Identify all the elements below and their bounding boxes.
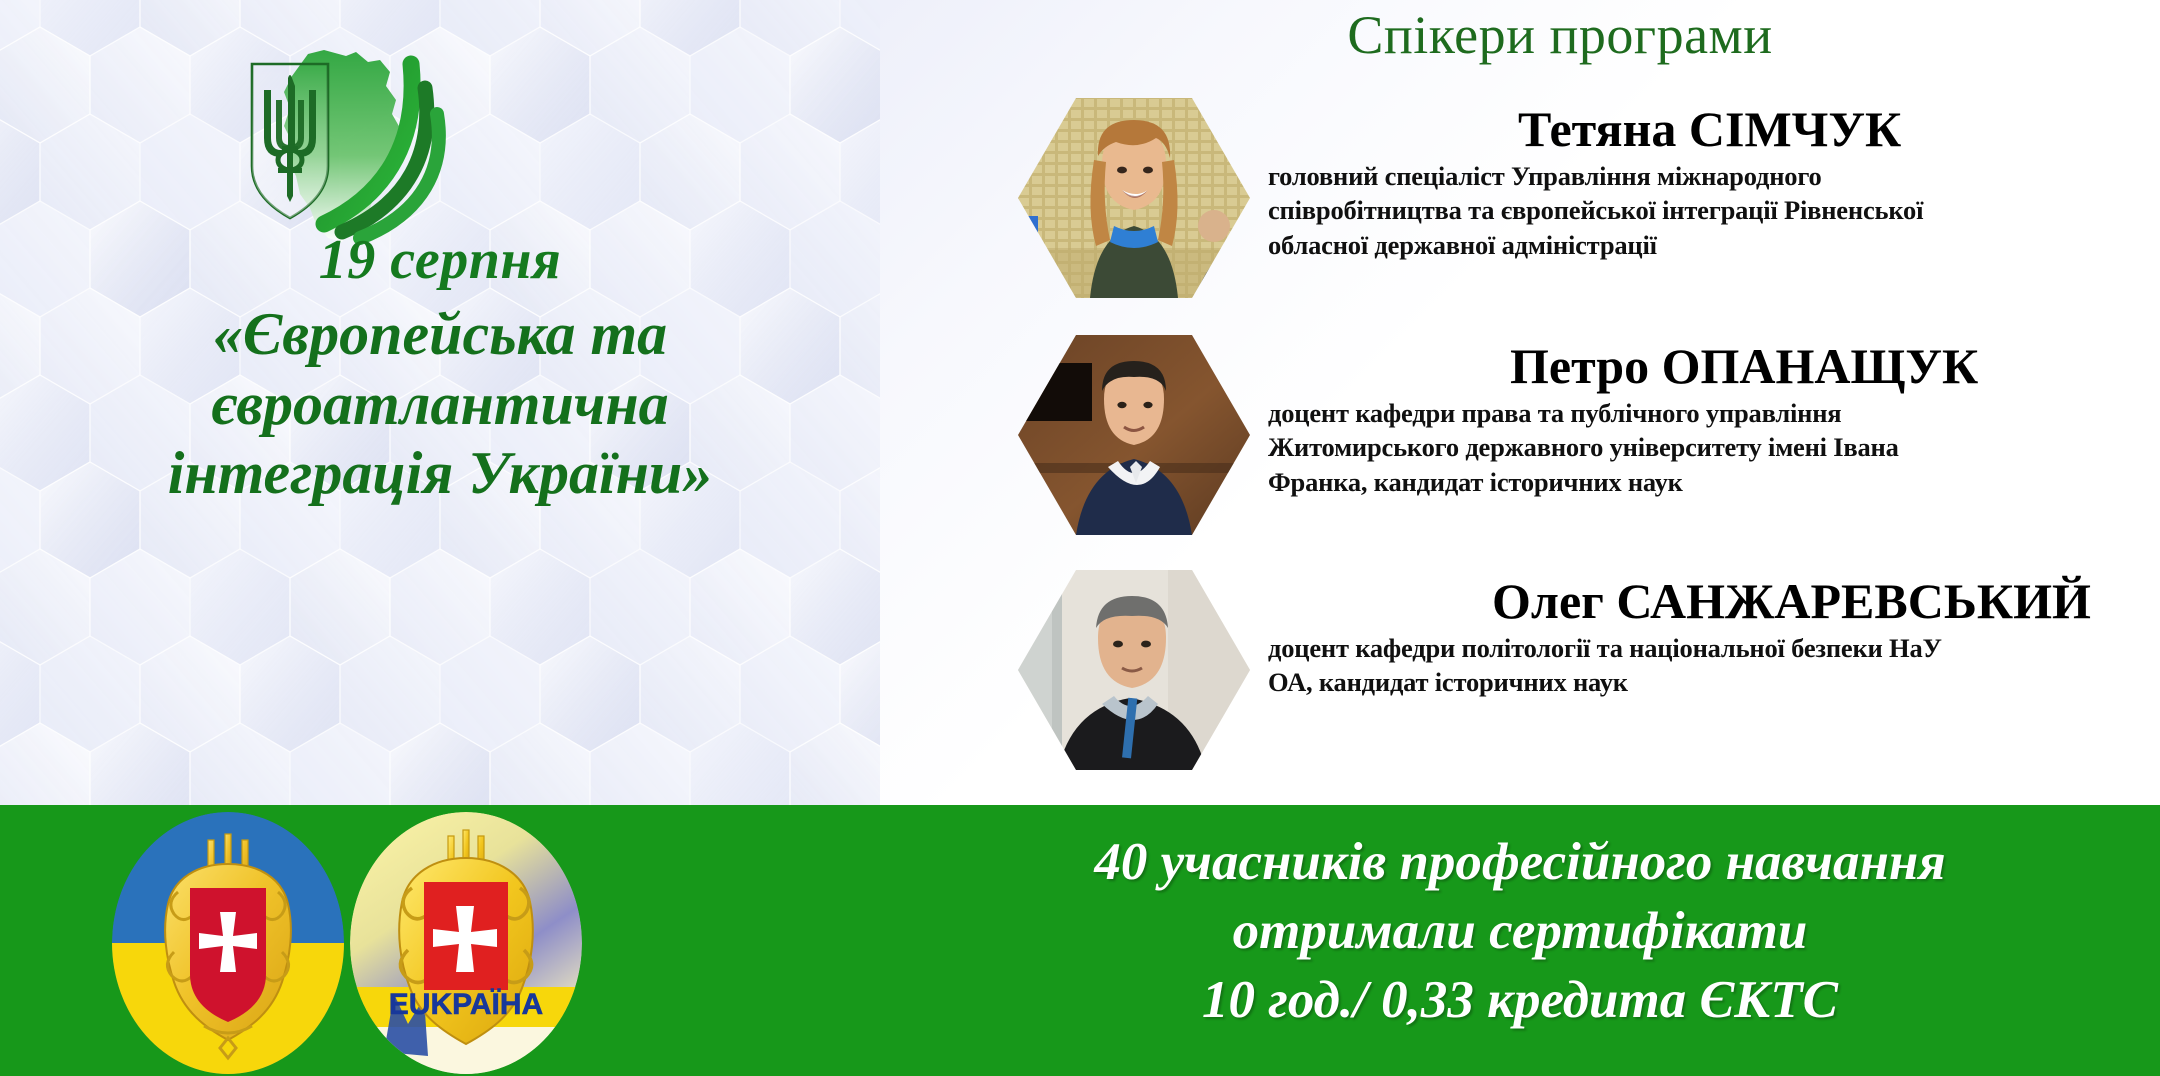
speaker-text-block: Петро ОПАНАЩУК доцент кафедри права та п… [1250, 335, 2148, 499]
speaker-role-line: доцент кафедри політології та національн… [1268, 631, 2148, 665]
speaker-name: Тетяна СІМЧУК [1268, 104, 2148, 155]
speaker-role-line: головний спеціаліст Управління міжнародн… [1268, 159, 2148, 193]
speaker-text-block: Олег САНЖАРЕВСЬКИЙ доцент кафедри політо… [1250, 570, 2148, 700]
speaker-role-line: Житомирського державного університету ім… [1268, 430, 2148, 464]
speaker-role: головний спеціаліст Управління міжнародн… [1268, 159, 2148, 262]
speaker-photo-petro-opanashchuk [1018, 335, 1250, 535]
speaker-role-line: ОА, кандидат історичних наук [1268, 665, 2148, 699]
speaker-row: Тетяна СІМЧУК головний спеціаліст Управл… [1018, 98, 2148, 298]
speaker-text-block: Тетяна СІМЧУК головний спеціаліст Управл… [1250, 98, 2148, 262]
banner-line-2: отримали сертифікати [880, 897, 2160, 966]
speaker-role-line: Франка, кандидат історичних наук [1268, 465, 2148, 499]
event-date: 19 серпня [0, 228, 880, 292]
speaker-role-line: обласної державної адміністрації [1268, 228, 2148, 262]
event-title-line-3: інтеграція України» [40, 439, 840, 509]
event-title-line-1: «Європейська та [40, 300, 840, 370]
banner-text: 40 учасників професійного навчання отрим… [880, 828, 2160, 1035]
speakers-heading: Спікери програми [1280, 4, 1840, 66]
speaker-photo-oleh-sanzharevskyi [1018, 570, 1250, 770]
rivne-oblast-coat-of-arms [112, 812, 344, 1074]
speaker-photo-tetiana-simchuk [1018, 98, 1250, 298]
banner-line-1: 40 учасників професійного навчання [880, 828, 2160, 897]
banner-line-3: 10 год./ 0,33 кредита ЄКТС [880, 966, 2160, 1035]
poster-root: 19 серпня «Європейська та євроатлантична… [0, 0, 2160, 1076]
speaker-role: доцент кафедри права та публічного управ… [1268, 396, 2148, 499]
speaker-name: Олег САНЖАРЕВСЬКИЙ [1268, 576, 2148, 627]
speaker-role-line: доцент кафедри права та публічного управ… [1268, 396, 2148, 430]
eu-ukraina-emblem: EUKPAÏHA [350, 812, 582, 1074]
event-title-line-2: євроатлантична [40, 370, 840, 440]
speaker-role-line: співробітництва та європейської інтеграц… [1268, 193, 2148, 227]
speaker-name: Петро ОПАНАЩУК [1268, 341, 2148, 392]
event-title: «Європейська та євроатлантична інтеграці… [40, 300, 840, 509]
eu-ukraina-caption: EUKPAÏHA [389, 988, 543, 1021]
speaker-row: Петро ОПАНАЩУК доцент кафедри права та п… [1018, 335, 2148, 535]
speaker-role: доцент кафедри політології та національн… [1268, 631, 2148, 700]
speaker-row: Олег САНЖАРЕВСЬКИЙ доцент кафедри політо… [1018, 570, 2148, 770]
rivne-oda-emblem-logo [196, 42, 456, 257]
